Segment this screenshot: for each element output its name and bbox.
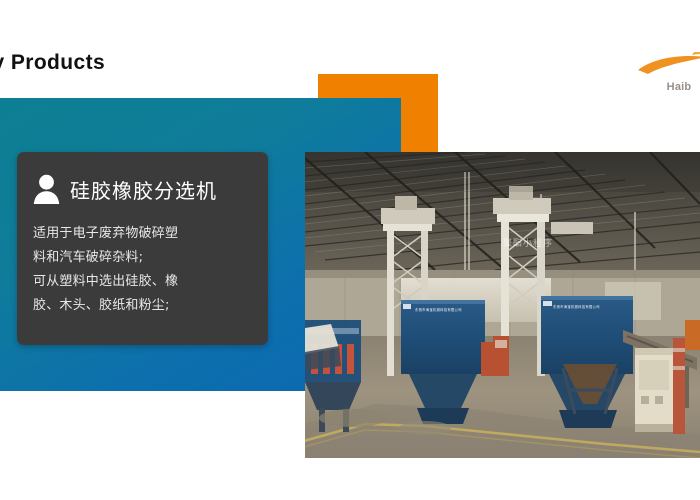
- page-title-en: pany Products: [0, 50, 374, 76]
- product-title: 硅胶橡胶分选机: [70, 175, 217, 204]
- product-info-card: 硅胶橡胶分选机 适用于电子废弃物破碎塑 料和汽车破碎杂料; 可从塑料中选出硅胶、…: [17, 152, 268, 345]
- description-line: 可从塑料中选出硅胶、橡: [33, 270, 252, 294]
- product-photo: 东莞市海宝机械科技有限公司 东莞市海宝机械科技有限公司 聚酯小程序: [305, 152, 700, 458]
- machine-label: 东莞市海宝机械科技有限公司: [415, 307, 462, 312]
- description-line: 料和汽车破碎杂料;: [33, 246, 252, 270]
- product-description: 适用于电子废弃物破碎塑 料和汽车破碎杂料; 可从塑料中选出硅胶、橡 胶、木头、胶…: [33, 222, 252, 318]
- description-line: 胶、木头、胶纸和粉尘;: [33, 294, 252, 318]
- swoosh-icon: [636, 52, 700, 80]
- description-line: 适用于电子废弃物破碎塑: [33, 222, 252, 246]
- photo-image: [305, 152, 700, 458]
- slide-canvas: 产品 pany Products Haib 硅胶橡胶分选机 适用于电子废弃物破碎…: [0, 0, 700, 500]
- page-title-cn: 产品: [0, 26, 374, 48]
- brand-name: Haib: [636, 81, 700, 93]
- brand-logo: Haib: [636, 52, 700, 106]
- card-header: 硅胶橡胶分选机: [33, 166, 252, 212]
- person-icon: [33, 174, 60, 204]
- machine-label: 东莞市海宝机械科技有限公司: [553, 304, 600, 309]
